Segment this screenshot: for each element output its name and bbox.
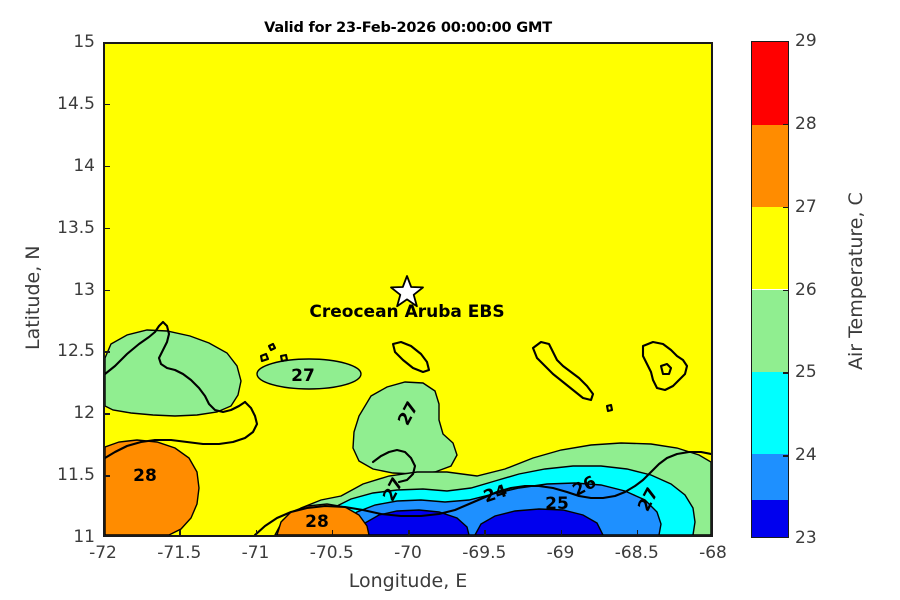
colorbar-band-27-28 <box>752 125 788 208</box>
contour-map-svg: 27 27 27 28 28 24 25 26 27 <box>105 44 711 535</box>
y-tick-label: 14.5 <box>0 94 95 114</box>
x-axis-label: Longitude, E <box>103 570 713 592</box>
colorbar-label: Air Temperature, C <box>845 192 867 370</box>
y-tick-label: 12 <box>0 403 95 423</box>
y-tick-mark <box>103 228 110 230</box>
contour-label-28-b: 28 <box>305 512 329 532</box>
colorbar-tick-mark <box>783 290 789 292</box>
x-tick-mark <box>332 530 334 537</box>
y-tick-mark <box>103 290 110 292</box>
y-tick-label: 14 <box>0 156 95 176</box>
colorbar-tick-label: 23 <box>795 528 817 548</box>
y-tick-label: 13 <box>0 280 95 300</box>
x-tick-mark <box>256 530 258 537</box>
x-tick-mark <box>637 530 639 537</box>
contour-label-27-a: 27 <box>291 366 315 386</box>
y-tick-mark <box>103 166 110 168</box>
contour-label-25: 25 <box>545 494 569 514</box>
x-tick-label: -68 <box>668 543 758 563</box>
y-axis-label: Latitude, N <box>22 246 44 351</box>
y-tick-mark <box>103 104 110 106</box>
y-tick-label: 15 <box>0 32 95 52</box>
colorbar-tick-label: 27 <box>795 197 817 217</box>
contour-label-28-a: 28 <box>133 466 157 486</box>
y-tick-label: 12.5 <box>0 341 95 361</box>
colorbar-band-25-26 <box>752 290 788 373</box>
x-tick-mark <box>179 530 181 537</box>
y-tick-mark <box>103 475 110 477</box>
colorbar-tick-mark <box>783 455 789 457</box>
colorbar-tick-label: 26 <box>795 280 817 300</box>
y-tick-mark <box>103 413 110 415</box>
colorbar-tick-mark <box>783 372 789 374</box>
colorbar-band-28-29 <box>752 42 788 125</box>
colorbar-band-23.5-24 <box>752 454 788 500</box>
colorbar-tick-label: 25 <box>795 362 817 382</box>
region-orange-west <box>105 440 199 535</box>
figure-title: Valid for 23-Feb-2026 00:00:00 GMT <box>103 20 713 36</box>
contour-map-plot[interactable]: 27 27 27 28 28 24 25 26 27 Creocean Arub… <box>103 42 713 537</box>
y-tick-mark <box>103 351 110 353</box>
station-label: Creocean Aruba EBS <box>309 302 504 322</box>
colorbar-tick-label: 24 <box>795 445 817 465</box>
colorbar-band-24-25 <box>752 372 788 455</box>
colorbar-band-26-27 <box>752 207 788 290</box>
colorbar-band-23-23.5 <box>752 500 788 537</box>
y-tick-label: 13.5 <box>0 218 95 238</box>
colorbar-tick-mark <box>783 207 789 209</box>
x-tick-mark <box>561 530 563 537</box>
colorbar-tick-label: 28 <box>795 114 817 134</box>
colorbar-tick-mark <box>783 124 789 126</box>
colorbar-tick-label: 29 <box>795 31 817 51</box>
x-tick-mark <box>484 530 486 537</box>
x-tick-mark <box>408 530 410 537</box>
y-tick-label: 11.5 <box>0 465 95 485</box>
figure-canvas: Valid for 23-Feb-2026 00:00:00 GMT <box>0 0 900 600</box>
